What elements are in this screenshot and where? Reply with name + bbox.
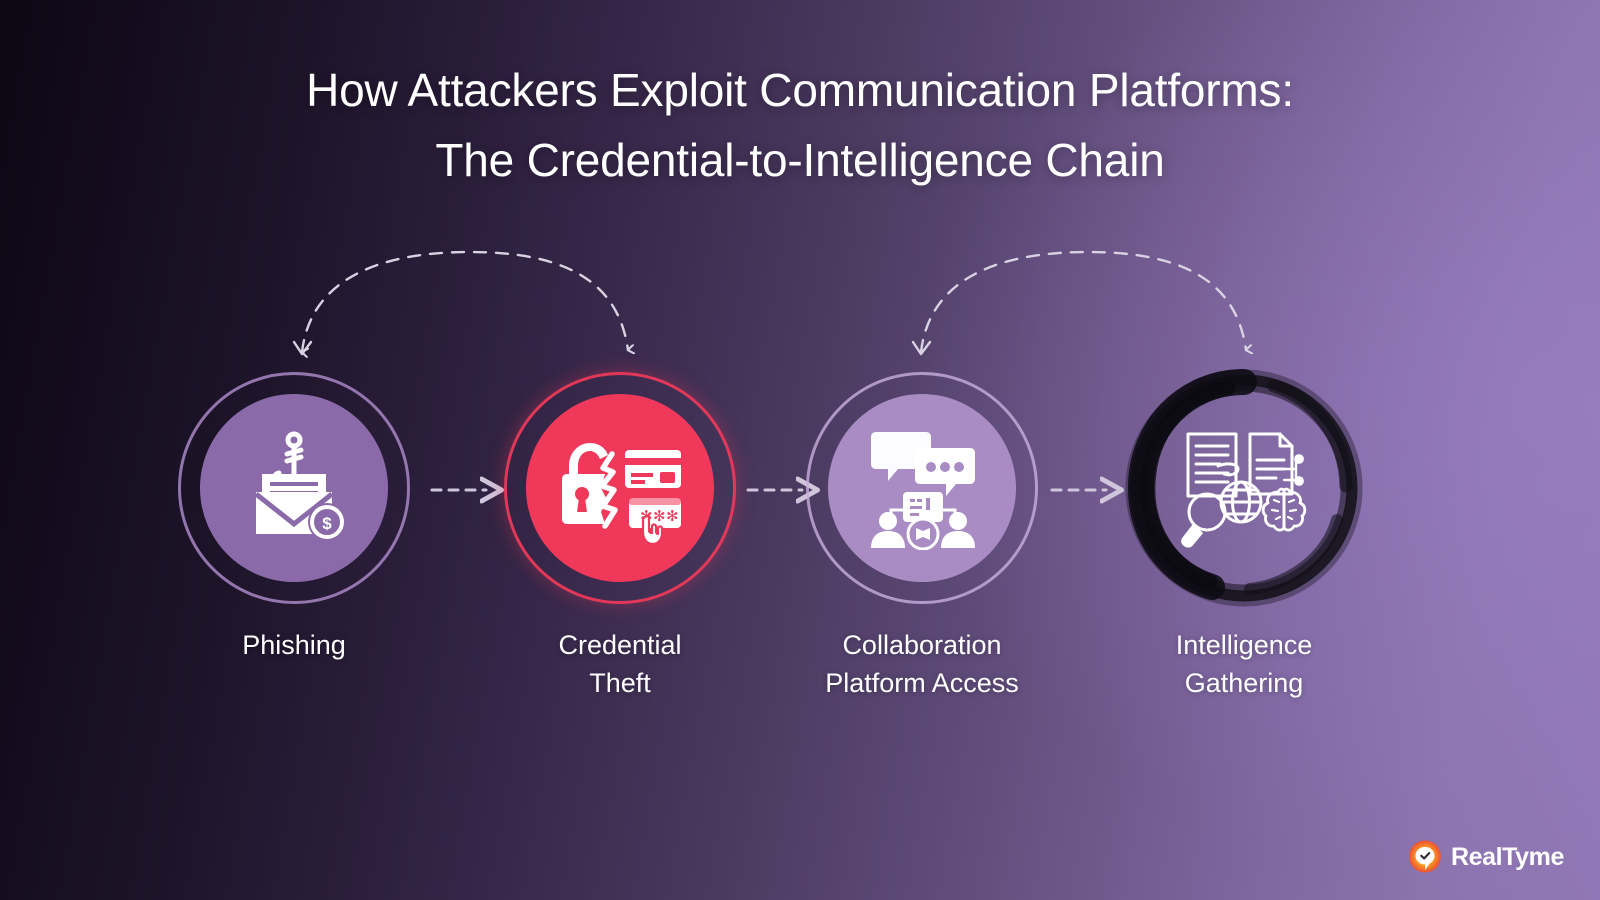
svg-text:✻: ✻	[666, 508, 679, 525]
page-title: How Attackers Exploit Communication Plat…	[0, 56, 1600, 196]
node-inner-disc: ✻ ✻ ✻	[526, 394, 714, 582]
curved-arc-1-left-arrowhead	[294, 342, 311, 354]
node-disc-collaboration[interactable]	[806, 372, 1038, 604]
flow-node-phishing[interactable]: $ Phishing	[178, 372, 410, 664]
phishing-hook-envelope-money-icon: $	[234, 428, 354, 548]
title-line-1: How Attackers Exploit Communication Plat…	[0, 56, 1600, 126]
node-label-line-1: Intelligence	[1128, 626, 1360, 664]
node-label-line-1: Collaboration	[806, 626, 1038, 664]
curved-arc-1-tail-head	[302, 300, 310, 352]
flow-node-collaboration-platform-access[interactable]: Collaboration Platform Access	[806, 372, 1038, 703]
curved-arc-1	[302, 252, 628, 352]
speech-bubble-check-icon	[1408, 840, 1442, 874]
title-line-2: The Credential-to-Intelligence Chain	[0, 126, 1600, 196]
node-label-credential-theft: Credential Theft	[504, 626, 736, 703]
node-inner-disc	[828, 394, 1016, 582]
node-label-line-2: Gathering	[1128, 664, 1360, 702]
node-label-line-1: Credential	[504, 626, 736, 664]
node-label-line-1: Phishing	[178, 626, 410, 664]
node-label-line-2: Platform Access	[806, 664, 1038, 702]
node-label-collaboration: Collaboration Platform Access	[806, 626, 1038, 703]
flow-node-intelligence-gathering[interactable]: Intelligence Gathering	[1128, 372, 1360, 703]
broken-padlock-credit-card-password-icon: ✻ ✻ ✻	[557, 428, 683, 548]
node-label-phishing: Phishing	[178, 626, 410, 664]
node-disc-credential-theft[interactable]: ✻ ✻ ✻	[504, 372, 736, 604]
node-disc-phishing[interactable]: $	[178, 372, 410, 604]
node-label-intelligence: Intelligence Gathering	[1128, 626, 1360, 703]
node-disc-intelligence[interactable]	[1128, 372, 1360, 604]
curved-arc-2	[921, 252, 1246, 352]
realtyme-wordmark: RealTyme	[1451, 843, 1564, 872]
node-label-line-2: Theft	[504, 664, 736, 702]
svg-text:$: $	[322, 514, 332, 533]
realtyme-logo[interactable]: RealTyme	[1408, 840, 1564, 874]
documents-globe-magnifier-brain-icon	[1180, 428, 1308, 548]
chat-bubbles-team-network-icon	[858, 426, 986, 550]
svg-text:✻: ✻	[653, 508, 666, 525]
flow-node-credential-theft[interactable]: ✻ ✻ ✻ Credential Theft	[504, 372, 736, 703]
node-inner-disc: $	[200, 394, 388, 582]
node-inner-disc	[1150, 394, 1338, 582]
curved-arc-2-left-arrowhead	[913, 342, 930, 354]
slide-canvas: How Attackers Exploit Communication Plat…	[0, 0, 1600, 900]
